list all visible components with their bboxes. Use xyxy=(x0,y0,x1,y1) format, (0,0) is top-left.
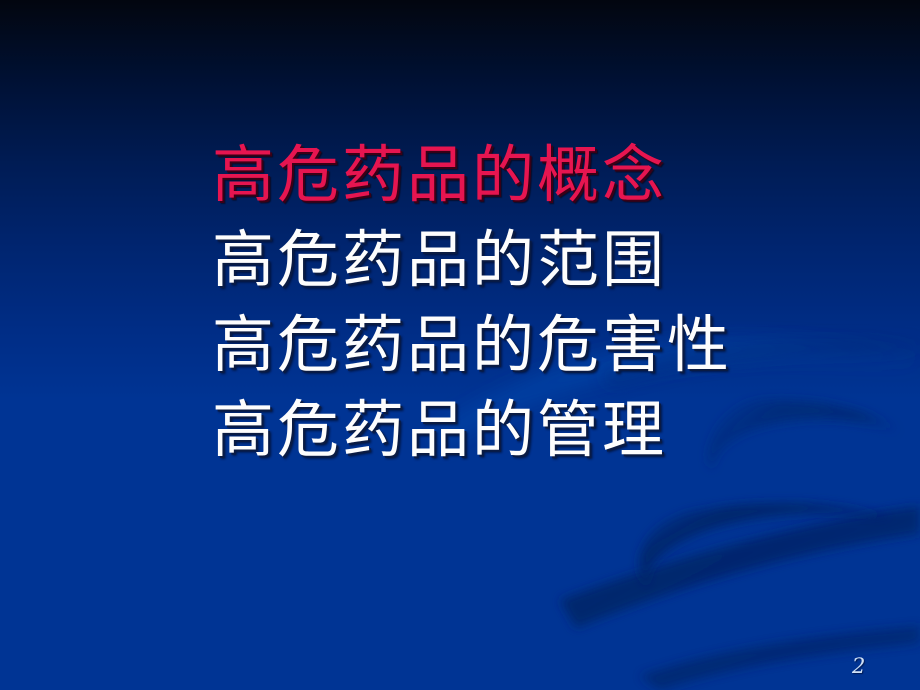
outline-line-1: 高危药品的概念 xyxy=(212,132,852,217)
slide-outline-text: 高危药品的概念 高危药品的范围 高危药品的危害性 高危药品的管理 xyxy=(212,132,852,472)
presentation-slide: 高危药品的概念 高危药品的范围 高危药品的危害性 高危药品的管理 2 xyxy=(0,0,920,690)
outline-line-4: 高危药品的管理 xyxy=(212,387,852,472)
page-number: 2 xyxy=(852,654,865,678)
outline-line-3: 高危药品的危害性 xyxy=(212,302,852,387)
outline-line-2: 高危药品的范围 xyxy=(212,217,852,302)
